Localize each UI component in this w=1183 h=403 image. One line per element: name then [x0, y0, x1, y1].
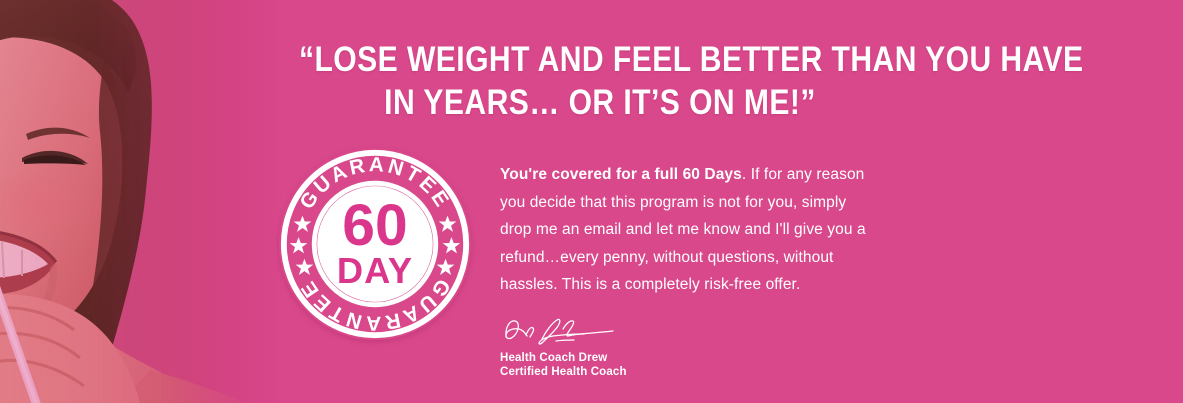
signature-title: Certified Health Coach	[500, 365, 875, 380]
guarantee-lead-in: You're covered for a full 60 Days	[500, 166, 742, 183]
guarantee-paragraph: You're covered for a full 60 Days. If fo…	[500, 161, 875, 299]
guarantee-body: . If for any reason you decide that this…	[500, 166, 866, 293]
guarantee-badge: GUARANTEE GUARANTEE 60 DAY	[277, 146, 473, 342]
guarantee-copy: You're covered for a full 60 Days. If fo…	[500, 161, 875, 380]
guarantee-banner: “LOSE WEIGHT AND FEEL BETTER THAN YOU HA…	[0, 0, 1183, 403]
hero-photo	[0, 0, 290, 403]
headline-line-1: “LOSE WEIGHT AND FEEL BETTER THAN YOU HA…	[299, 38, 901, 81]
badge-number: 60	[342, 193, 407, 258]
signature-byline: Health Coach Drew Certified Health Coach	[500, 351, 875, 380]
badge-unit: DAY	[337, 250, 413, 291]
page-title: “LOSE WEIGHT AND FEEL BETTER THAN YOU HA…	[299, 38, 901, 124]
handwritten-signature-icon	[500, 313, 630, 347]
signature-name: Health Coach Drew	[500, 351, 875, 366]
headline-line-2: IN YEARS… OR IT’S ON ME!”	[299, 81, 901, 124]
